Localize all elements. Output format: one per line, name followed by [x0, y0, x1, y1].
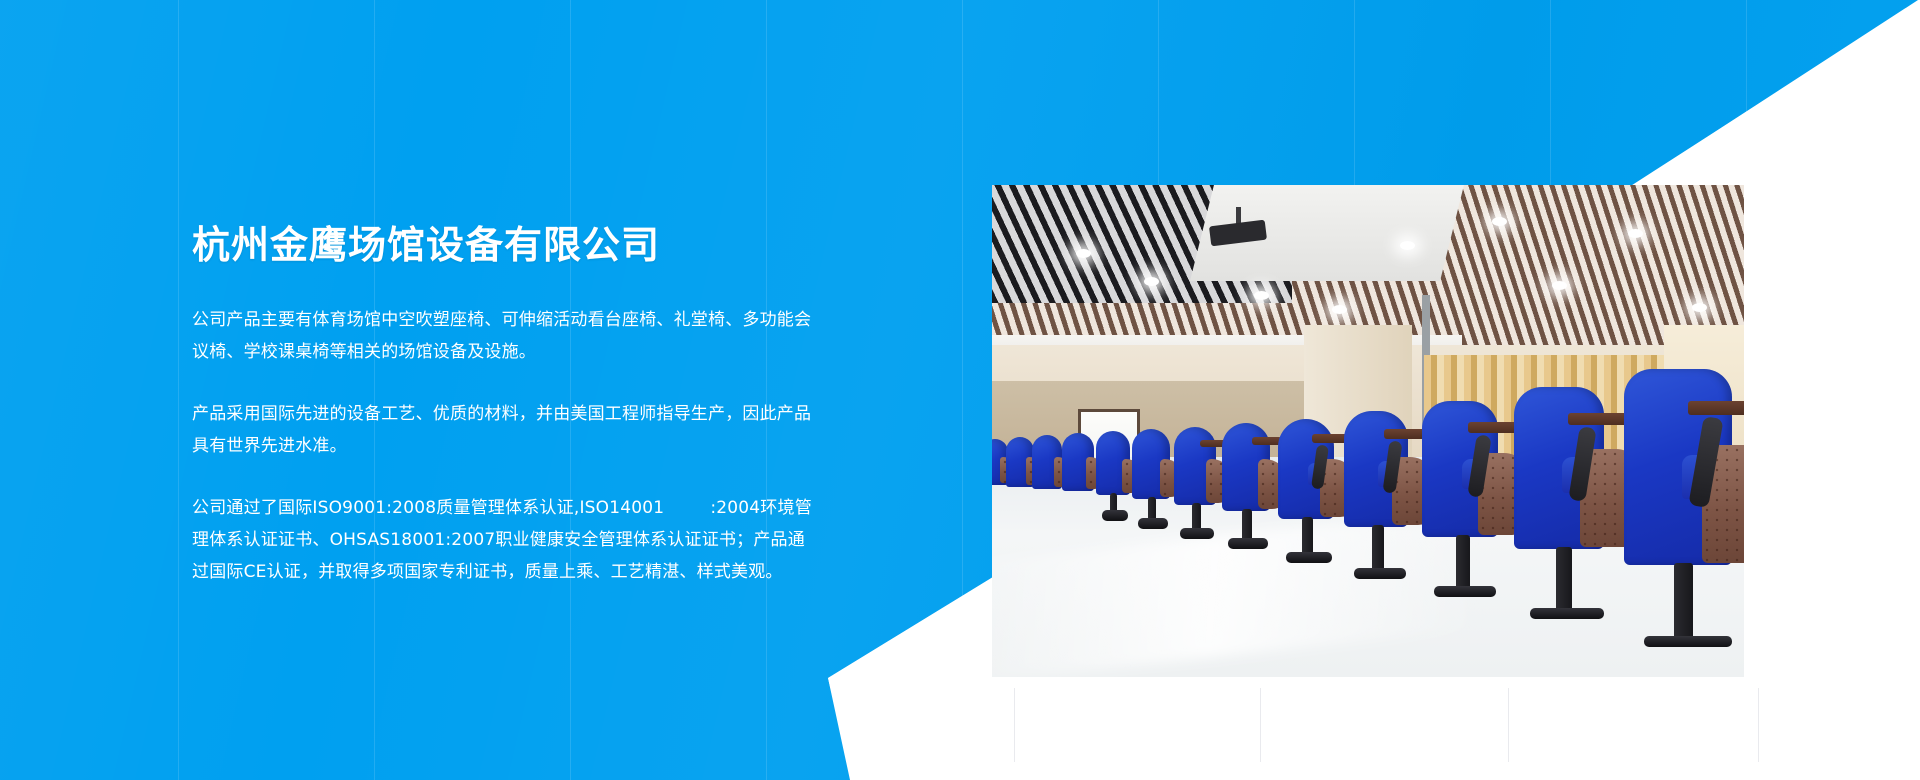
- guideline: [1260, 688, 1261, 762]
- white-area-guidelines: [1014, 688, 1762, 762]
- guideline: [1508, 688, 1509, 762]
- certification-text-part1: 公司通过了国际ISO9001:2008质量管理体系认证,ISO14001: [192, 498, 664, 518]
- ceiling-light: [1552, 281, 1567, 290]
- promo-banner: 杭州金鹰场馆设备有限公司 公司产品主要有体育场馆中空吹塑座椅、可伸缩活动看台座椅…: [0, 0, 1920, 780]
- company-intro-block: 杭州金鹰场馆设备有限公司 公司产品主要有体育场馆中空吹塑座椅、可伸缩活动看台座椅…: [192, 222, 812, 588]
- ceiling-light: [1400, 241, 1415, 250]
- auditorium-seating-photo: [992, 185, 1744, 677]
- ceiling-light: [1254, 291, 1269, 300]
- company-title: 杭州金鹰场馆设备有限公司: [192, 222, 812, 268]
- photo-canvas: [992, 185, 1744, 677]
- ceiling-light: [1628, 229, 1643, 238]
- intro-paragraph-products: 公司产品主要有体育场馆中空吹塑座椅、可伸缩活动看台座椅、礼堂椅、多功能会议椅、学…: [192, 304, 812, 368]
- intro-paragraph-certifications: 公司通过了国际ISO9001:2008质量管理体系认证,ISO14001:200…: [192, 492, 812, 588]
- guideline: [1758, 688, 1759, 762]
- ceiling-light: [1076, 249, 1091, 258]
- ceiling-light: [1692, 303, 1707, 312]
- ceiling-light: [1144, 277, 1159, 286]
- guideline: [1014, 688, 1015, 762]
- ceiling-light: [1332, 305, 1347, 314]
- ceiling-light: [1492, 217, 1507, 226]
- intro-paragraph-quality: 产品采用国际先进的设备工艺、优质的材料，并由美国工程师指导生产，因此产品具有世界…: [192, 398, 812, 462]
